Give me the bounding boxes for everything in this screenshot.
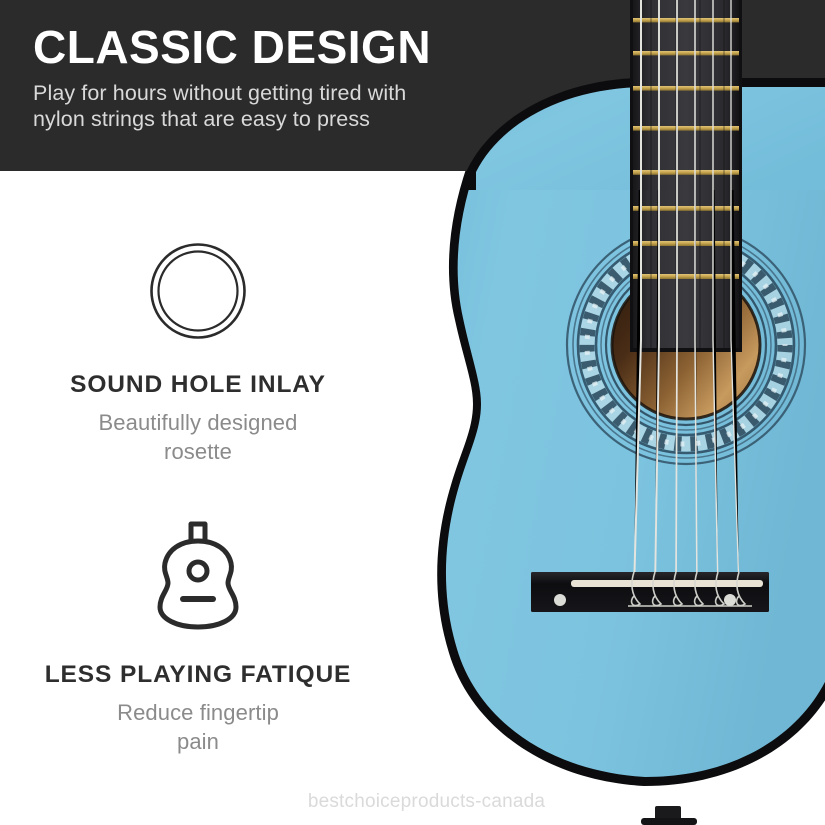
feature-sound-hole-inlay: SOUND HOLE INLAY Beautifully designed ro… [0, 232, 396, 466]
guitar-icon-body [160, 541, 236, 627]
fret [633, 206, 739, 211]
fret [633, 241, 739, 246]
page-subtitle: Play for hours without getting tired wit… [33, 80, 533, 132]
header-text-block: CLASSIC DESIGN Play for hours without ge… [33, 20, 533, 132]
watermark: bestchoiceproducts-canada [0, 790, 825, 814]
header-band: CLASSIC DESIGN Play for hours without ge… [0, 0, 825, 171]
bridge-dot [724, 594, 736, 606]
sound-hole-ring-icon [0, 232, 396, 350]
feature-title: SOUND HOLE INLAY [0, 370, 396, 400]
bridge-dot [554, 594, 566, 606]
page-subtitle-line-2: nylon strings that are easy to press [33, 106, 533, 132]
feature-description-line-2: pain [0, 727, 396, 756]
acoustic-guitar-icon-glyph [150, 519, 246, 631]
acoustic-guitar-icon [0, 512, 396, 638]
guitar-icon-neck [191, 524, 205, 541]
page-subtitle-line-1: Play for hours without getting tired wit… [33, 80, 533, 106]
ring-inner [159, 252, 238, 331]
feature-description: Beautifully designed rosette [0, 408, 396, 466]
ring-outer [152, 245, 245, 338]
page-title: CLASSIC DESIGN [33, 20, 533, 74]
bridge [531, 572, 769, 612]
bridge-saddle [571, 580, 763, 587]
fret [633, 274, 739, 279]
guitar-icon-sound-hole [189, 562, 207, 580]
feature-description-line-1: Reduce fingertip [0, 698, 396, 727]
sound-hole-ring-icon-glyph [148, 241, 248, 341]
feature-title: LESS PLAYING FATIQUE [0, 660, 396, 690]
feature-less-playing-fatique: LESS PLAYING FATIQUE Reduce fingertip pa… [0, 512, 396, 756]
infographic-canvas: CLASSIC DESIGN Play for hours without ge… [0, 0, 825, 825]
feature-description: Reduce fingertip pain [0, 698, 396, 756]
feature-description-line-2: rosette [0, 437, 396, 466]
feature-description-line-1: Beautifully designed [0, 408, 396, 437]
stand-base [641, 818, 697, 825]
